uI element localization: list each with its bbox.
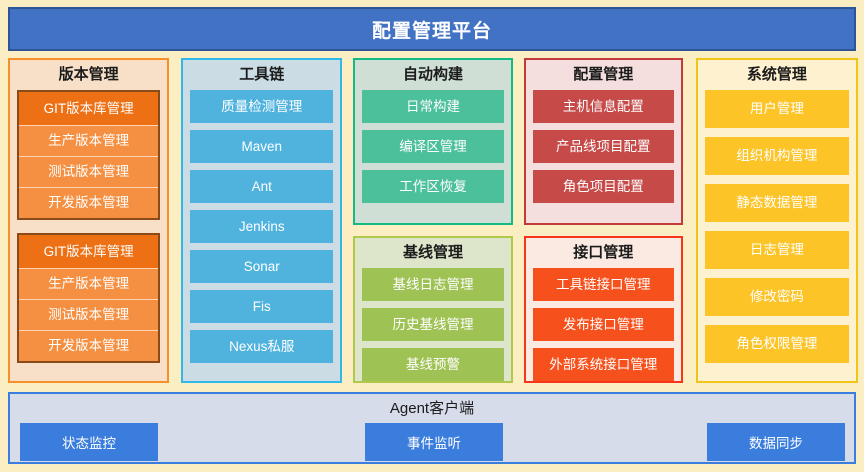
agent-client-title: Agent客户端 (10, 398, 854, 419)
column-version-management: 版本管理 GIT版本库管理 生产版本管理 测试版本管理 开发版本管理 GIT版本… (8, 58, 169, 383)
interface-item-release[interactable]: 发布接口管理 (533, 308, 674, 341)
diagram-root: 配置管理平台 版本管理 GIT版本库管理 生产版本管理 测试版本管理 开发版本管… (0, 0, 864, 472)
panel-auto-build: 自动构建 日常构建 编译区管理 工作区恢复 (353, 58, 512, 225)
toolchain-item-ant[interactable]: Ant (190, 170, 333, 203)
toolchain-item-maven[interactable]: Maven (190, 130, 333, 163)
panel-configuration-management: 配置管理 主机信息配置 产品线项目配置 角色项目配置 (524, 58, 683, 225)
panel-system-management: 系统管理 用户管理 组织机构管理 静态数据管理 日志管理 修改密码 角色权限管理 (696, 58, 858, 383)
agent-buttons: 状态监控 事件监听 数据同步 (10, 423, 854, 461)
toolchain-item-jenkins[interactable]: Jenkins (190, 210, 333, 243)
toolchain-items: 质量检测管理 Maven Ant Jenkins Sonar Fis Nexus… (190, 90, 333, 374)
system-item-user[interactable]: 用户管理 (705, 90, 849, 128)
system-items: 用户管理 组织机构管理 静态数据管理 日志管理 修改密码 角色权限管理 (705, 90, 849, 374)
column-configuration: 配置管理 主机信息配置 产品线项目配置 角色项目配置 接口管理 工具链接口管理 … (524, 58, 683, 383)
column-system-management: 系统管理 用户管理 组织机构管理 静态数据管理 日志管理 修改密码 角色权限管理 (696, 58, 858, 383)
panel-title-baseline-management: 基线管理 (362, 243, 503, 262)
toolchain-item-nexus[interactable]: Nexus私服 (190, 330, 333, 363)
panel-title-system-management: 系统管理 (705, 65, 849, 84)
panel-version-management: 版本管理 GIT版本库管理 生产版本管理 测试版本管理 开发版本管理 GIT版本… (8, 58, 169, 383)
panel-toolchain: 工具链 质量检测管理 Maven Ant Jenkins Sonar Fis N… (181, 58, 342, 383)
panel-title-auto-build: 自动构建 (362, 65, 503, 84)
column-auto-build: 自动构建 日常构建 编译区管理 工作区恢复 基线管理 基线日志管理 历史基线管理… (353, 58, 512, 383)
columns-container: 版本管理 GIT版本库管理 生产版本管理 测试版本管理 开发版本管理 GIT版本… (6, 58, 858, 383)
system-item-organization[interactable]: 组织机构管理 (705, 137, 849, 175)
agent-button-status-monitor[interactable]: 状态监控 (20, 423, 158, 461)
panel-title-configuration-management: 配置管理 (533, 65, 674, 84)
version-group-1-item-1[interactable]: 生产版本管理 (19, 125, 158, 156)
agent-client-bar: Agent客户端 状态监控 事件监听 数据同步 (8, 392, 856, 464)
version-groups: GIT版本库管理 生产版本管理 测试版本管理 开发版本管理 GIT版本库管理 生… (17, 90, 160, 374)
version-group-2-item-2[interactable]: 测试版本管理 (19, 299, 158, 330)
version-group-1-item-3[interactable]: 开发版本管理 (19, 187, 158, 218)
baseline-item-alert[interactable]: 基线预警 (362, 348, 503, 381)
system-item-log[interactable]: 日志管理 (705, 231, 849, 269)
system-item-static-data[interactable]: 静态数据管理 (705, 184, 849, 222)
panel-title-interface-management: 接口管理 (533, 243, 674, 262)
version-group-2-item-3[interactable]: 开发版本管理 (19, 330, 158, 361)
agent-button-data-sync[interactable]: 数据同步 (707, 423, 845, 461)
system-item-change-password[interactable]: 修改密码 (705, 278, 849, 316)
auto-build-item-daily[interactable]: 日常构建 (362, 90, 503, 123)
version-group-2-head[interactable]: GIT版本库管理 (19, 235, 158, 268)
panel-title-version-management: 版本管理 (17, 65, 160, 84)
panel-baseline-management: 基线管理 基线日志管理 历史基线管理 基线预警 (353, 236, 512, 383)
toolchain-item-fis[interactable]: Fis (190, 290, 333, 323)
interface-items: 工具链接口管理 发布接口管理 外部系统接口管理 (533, 268, 674, 381)
version-group-2-item-1[interactable]: 生产版本管理 (19, 268, 158, 299)
config-item-host-info[interactable]: 主机信息配置 (533, 90, 674, 123)
config-item-product-line-project[interactable]: 产品线项目配置 (533, 130, 674, 163)
version-group-1: GIT版本库管理 生产版本管理 测试版本管理 开发版本管理 (17, 90, 160, 220)
interface-item-external-system[interactable]: 外部系统接口管理 (533, 348, 674, 381)
auto-build-item-workspace-restore[interactable]: 工作区恢复 (362, 170, 503, 203)
baseline-items: 基线日志管理 历史基线管理 基线预警 (362, 268, 503, 381)
version-group-2: GIT版本库管理 生产版本管理 测试版本管理 开发版本管理 (17, 233, 160, 363)
version-group-1-item-2[interactable]: 测试版本管理 (19, 156, 158, 187)
baseline-item-log[interactable]: 基线日志管理 (362, 268, 503, 301)
column-toolchain: 工具链 质量检测管理 Maven Ant Jenkins Sonar Fis N… (181, 58, 342, 383)
auto-build-items: 日常构建 编译区管理 工作区恢复 (362, 90, 503, 216)
page-title: 配置管理平台 (8, 7, 856, 51)
configuration-items: 主机信息配置 产品线项目配置 角色项目配置 (533, 90, 674, 216)
auto-build-item-compile-zone[interactable]: 编译区管理 (362, 130, 503, 163)
system-item-role-permission[interactable]: 角色权限管理 (705, 325, 849, 363)
agent-button-event-listener[interactable]: 事件监听 (365, 423, 503, 461)
panel-interface-management: 接口管理 工具链接口管理 发布接口管理 外部系统接口管理 (524, 236, 683, 383)
panel-title-toolchain: 工具链 (190, 65, 333, 84)
interface-item-toolchain[interactable]: 工具链接口管理 (533, 268, 674, 301)
baseline-item-history[interactable]: 历史基线管理 (362, 308, 503, 341)
version-group-1-head[interactable]: GIT版本库管理 (19, 92, 158, 125)
toolchain-item-sonar[interactable]: Sonar (190, 250, 333, 283)
toolchain-item-quality[interactable]: 质量检测管理 (190, 90, 333, 123)
config-item-role-project[interactable]: 角色项目配置 (533, 170, 674, 203)
